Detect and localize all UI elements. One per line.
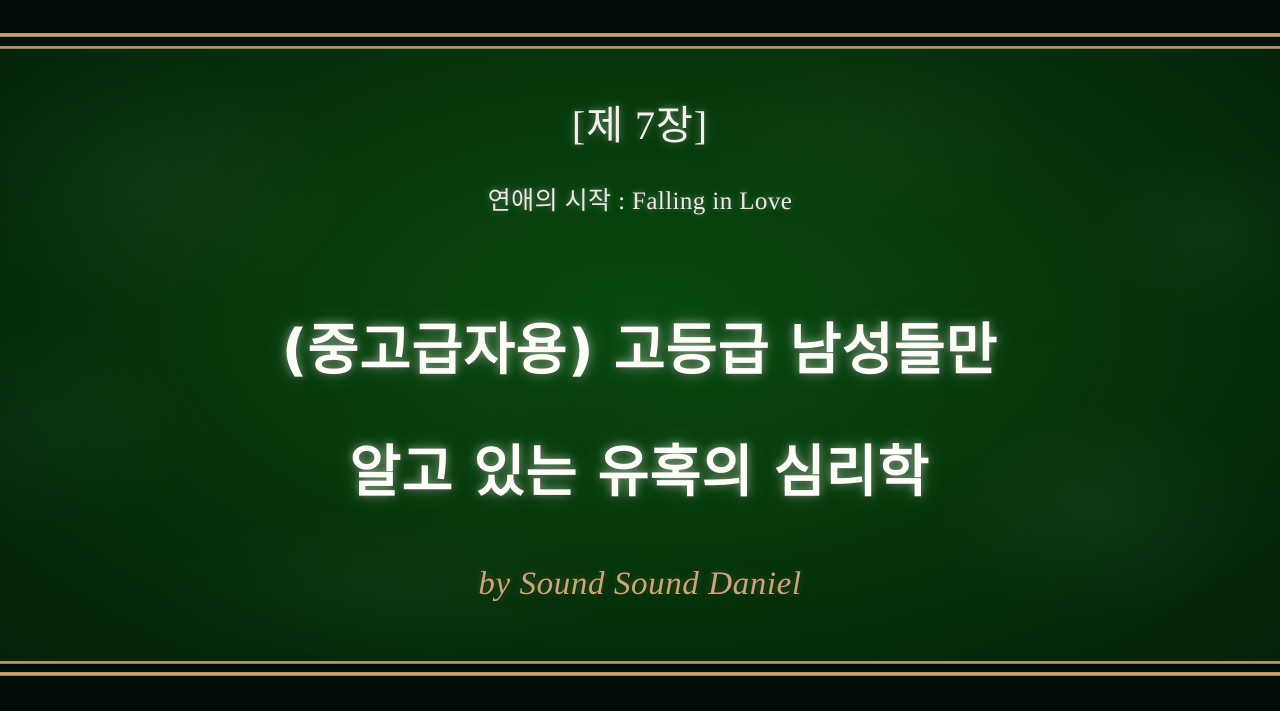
chapter-tag: [제 7장] — [0, 106, 1280, 146]
slide-title-line-2: 알고 있는 유혹의 심리학 — [0, 412, 1280, 534]
frame-band-bottom — [0, 678, 1280, 711]
slide-title-line-1: (중고급자용) 고등급 남성들만 — [0, 290, 1280, 412]
frame-gap-top — [0, 37, 1280, 46]
slide-title: (중고급자용) 고등급 남성들만 알고 있는 유혹의 심리학 — [0, 290, 1280, 534]
frame-rule-bottom-inner — [0, 661, 1280, 664]
frame-rule-bottom-outer — [0, 672, 1280, 676]
frame-rule-top-outer — [0, 33, 1280, 37]
slide-subtitle: 연애의 시작 : Falling in Love — [0, 189, 1280, 214]
slide-byline: by Sound Sound Daniel — [0, 568, 1280, 601]
title-slide: [제 7장] 연애의 시작 : Falling in Love (중고급자용) … — [0, 0, 1280, 711]
slide-content: [제 7장] 연애의 시작 : Falling in Love (중고급자용) … — [0, 49, 1280, 661]
frame-band-top — [0, 0, 1280, 33]
